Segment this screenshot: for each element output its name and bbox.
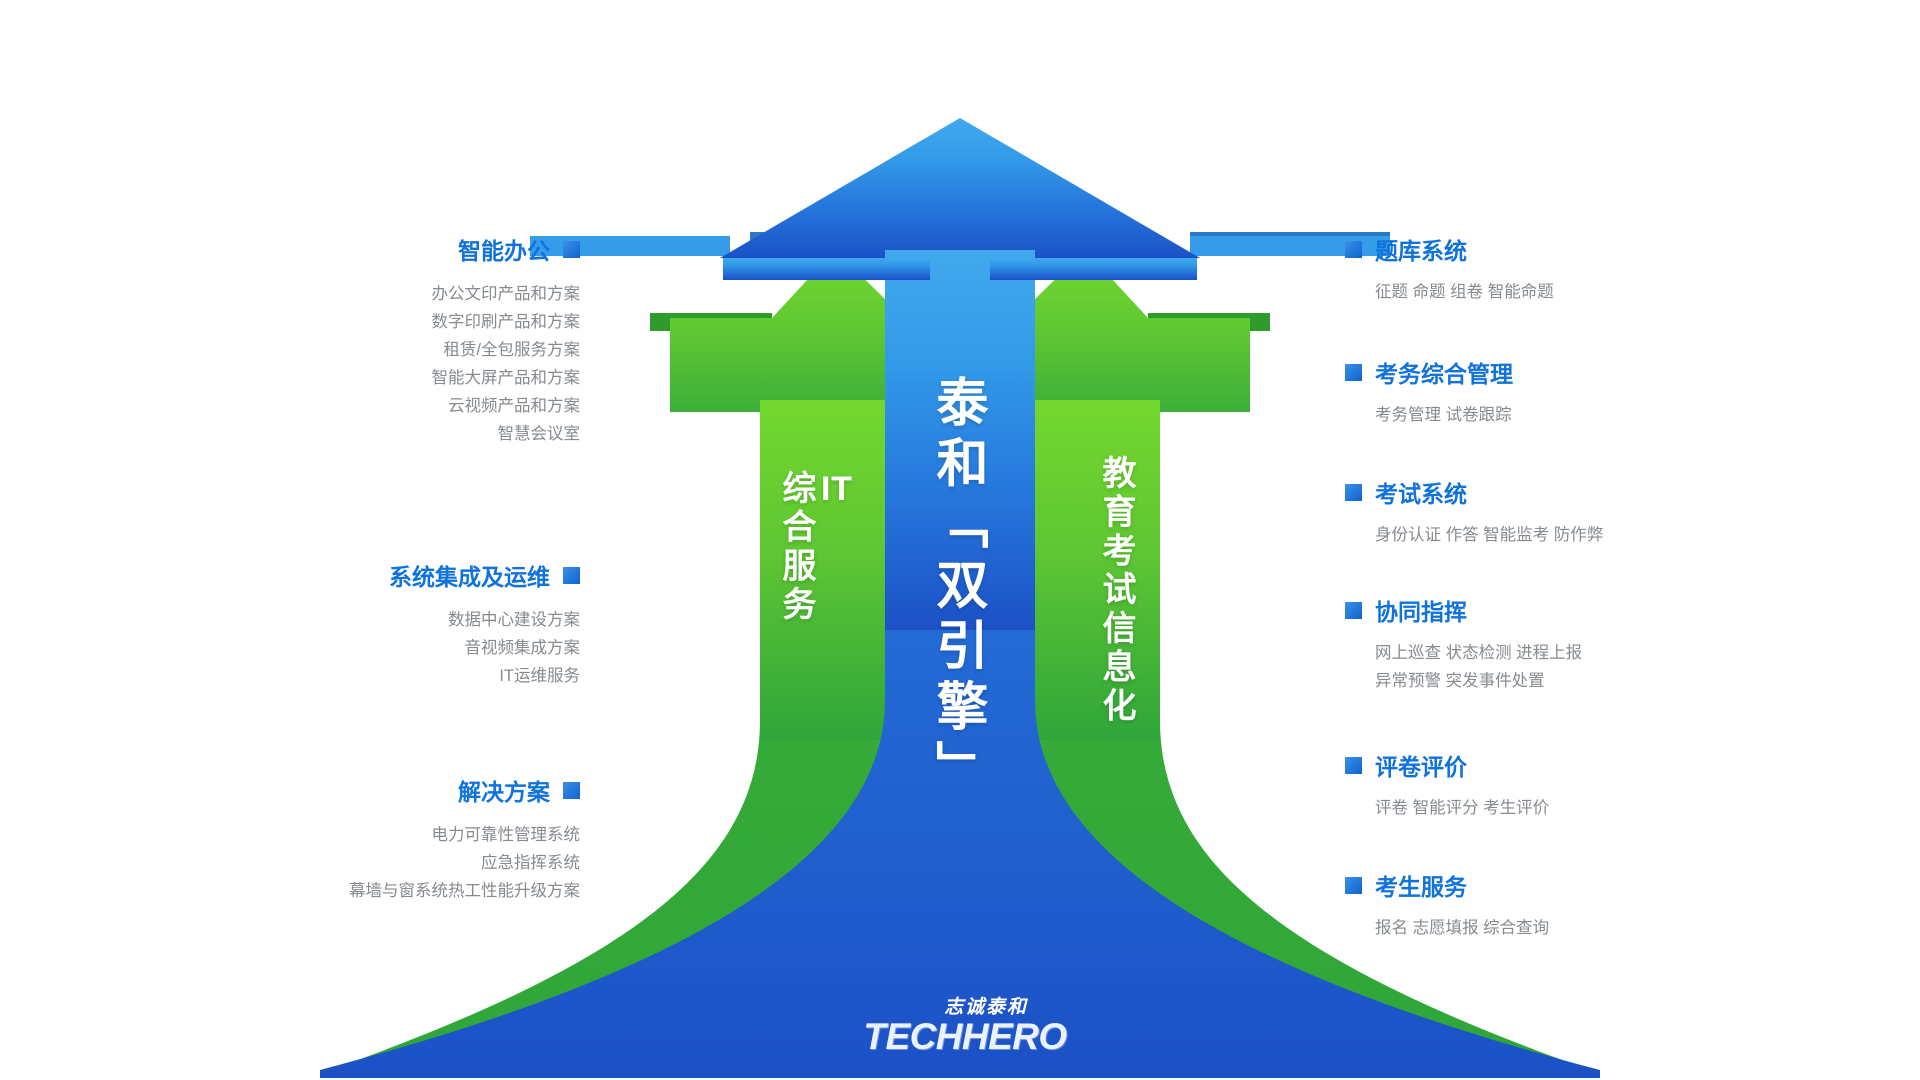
bullet-square-icon bbox=[1345, 241, 1362, 258]
service-block: 智能办公办公文印产品和方案数字印刷产品和方案租赁/全包服务方案智能大屏产品和方案… bbox=[180, 232, 580, 448]
service-block: 评卷评价评卷 智能评分 考生评价 bbox=[1345, 748, 1775, 822]
service-block: 协同指挥网上巡查 状态检测 进程上报异常预警 突发事件处置 bbox=[1345, 593, 1775, 695]
service-item: 报名 志愿填报 综合查询 bbox=[1375, 914, 1775, 942]
service-item: 应急指挥系统 bbox=[180, 849, 580, 877]
service-block-header: 考务综合管理 bbox=[1345, 355, 1775, 389]
left-arrow-caption: IT 综合服务 bbox=[772, 470, 853, 625]
service-item-list: 征题 命题 组卷 智能命题 bbox=[1375, 278, 1775, 306]
service-block-title: 系统集成及运维 bbox=[389, 558, 550, 592]
service-block: 考务综合管理考务管理 试卷跟踪 bbox=[1345, 355, 1775, 429]
bullet-square-icon bbox=[563, 241, 580, 258]
service-block: 题库系统征题 命题 组卷 智能命题 bbox=[1345, 232, 1775, 306]
service-block-header: 考生服务 bbox=[1345, 868, 1775, 902]
bullet-square-icon bbox=[1345, 877, 1362, 894]
service-item: 智慧会议室 bbox=[180, 420, 580, 448]
service-item: 音视频集成方案 bbox=[180, 634, 580, 662]
bullet-square-icon bbox=[563, 782, 580, 799]
service-item: 身份认证 作答 智能监考 防作弊 bbox=[1375, 521, 1775, 549]
service-block-header: 系统集成及运维 bbox=[180, 558, 580, 592]
service-item: 异常预警 突发事件处置 bbox=[1375, 667, 1775, 695]
left-arrow-caption-latin: IT bbox=[821, 470, 853, 509]
bullet-square-icon bbox=[1345, 364, 1362, 381]
service-item: 数据中心建设方案 bbox=[180, 606, 580, 634]
service-item: IT运维服务 bbox=[180, 662, 580, 690]
service-item: 征题 命题 组卷 智能命题 bbox=[1375, 278, 1775, 306]
service-item: 网上巡查 状态检测 进程上报 bbox=[1375, 639, 1775, 667]
logo-chinese-name: 志诚泰和 bbox=[902, 998, 1070, 1017]
service-block-title: 智能办公 bbox=[458, 232, 550, 266]
service-item: 云视频产品和方案 bbox=[180, 392, 580, 420]
service-block: 考试系统身份认证 作答 智能监考 防作弊 bbox=[1345, 475, 1775, 549]
bullet-square-icon bbox=[1345, 757, 1362, 774]
service-block-header: 解决方案 bbox=[180, 773, 580, 807]
service-item-list: 网上巡查 状态检测 进程上报异常预警 突发事件处置 bbox=[1375, 639, 1775, 695]
service-item: 智能大屏产品和方案 bbox=[180, 364, 580, 392]
service-item: 办公文印产品和方案 bbox=[180, 280, 580, 308]
service-item-list: 身份认证 作答 智能监考 防作弊 bbox=[1375, 521, 1775, 549]
center-arrow-caption: 泰和「双引擎」 bbox=[920, 375, 995, 801]
service-block-title: 考试系统 bbox=[1375, 475, 1467, 509]
service-item: 幕墙与窗系统热工性能升级方案 bbox=[180, 877, 580, 905]
service-block-title: 题库系统 bbox=[1375, 232, 1467, 266]
left-arrow-caption-cn: 综合服务 bbox=[777, 470, 815, 625]
service-block-title: 评卷评价 bbox=[1375, 748, 1467, 782]
service-block: 系统集成及运维数据中心建设方案音视频集成方案IT运维服务 bbox=[180, 558, 580, 690]
service-item: 电力可靠性管理系统 bbox=[180, 821, 580, 849]
logo-english-name: TECHHERO bbox=[860, 1018, 1070, 1055]
service-block-title: 考生服务 bbox=[1375, 868, 1467, 902]
service-block: 解决方案电力可靠性管理系统应急指挥系统幕墙与窗系统热工性能升级方案 bbox=[180, 773, 580, 905]
infographic-poster: IT 综合服务 泰和「双引擎」 教育考试信息化 智能办公办公文印产品和方案数字印… bbox=[0, 0, 1920, 1080]
bullet-square-icon bbox=[1345, 602, 1362, 619]
service-item-list: 电力可靠性管理系统应急指挥系统幕墙与窗系统热工性能升级方案 bbox=[180, 821, 580, 905]
service-block-header: 智能办公 bbox=[180, 232, 580, 266]
service-block: 考生服务报名 志愿填报 综合查询 bbox=[1345, 868, 1775, 942]
service-block-header: 题库系统 bbox=[1345, 232, 1775, 266]
service-item-list: 报名 志愿填报 综合查询 bbox=[1375, 914, 1775, 942]
bullet-square-icon bbox=[1345, 484, 1362, 501]
service-item: 评卷 智能评分 考生评价 bbox=[1375, 794, 1775, 822]
service-item: 租赁/全包服务方案 bbox=[180, 336, 580, 364]
service-item: 考务管理 试卷跟踪 bbox=[1375, 401, 1775, 429]
service-block-title: 协同指挥 bbox=[1375, 593, 1467, 627]
service-item-list: 数据中心建设方案音视频集成方案IT运维服务 bbox=[180, 606, 580, 690]
service-block-header: 考试系统 bbox=[1345, 475, 1775, 509]
service-item-list: 考务管理 试卷跟踪 bbox=[1375, 401, 1775, 429]
service-block-header: 评卷评价 bbox=[1345, 748, 1775, 782]
service-block-header: 协同指挥 bbox=[1345, 593, 1775, 627]
service-block-title: 解决方案 bbox=[458, 773, 550, 807]
service-block-title: 考务综合管理 bbox=[1375, 355, 1513, 389]
company-logo: 志诚泰和 TECHHERO bbox=[860, 998, 1070, 1055]
right-arrow-caption: 教育考试信息化 bbox=[1092, 455, 1141, 726]
service-item-list: 办公文印产品和方案数字印刷产品和方案租赁/全包服务方案智能大屏产品和方案云视频产… bbox=[180, 280, 580, 448]
service-item: 数字印刷产品和方案 bbox=[180, 308, 580, 336]
bullet-square-icon bbox=[563, 567, 580, 584]
service-item-list: 评卷 智能评分 考生评价 bbox=[1375, 794, 1775, 822]
